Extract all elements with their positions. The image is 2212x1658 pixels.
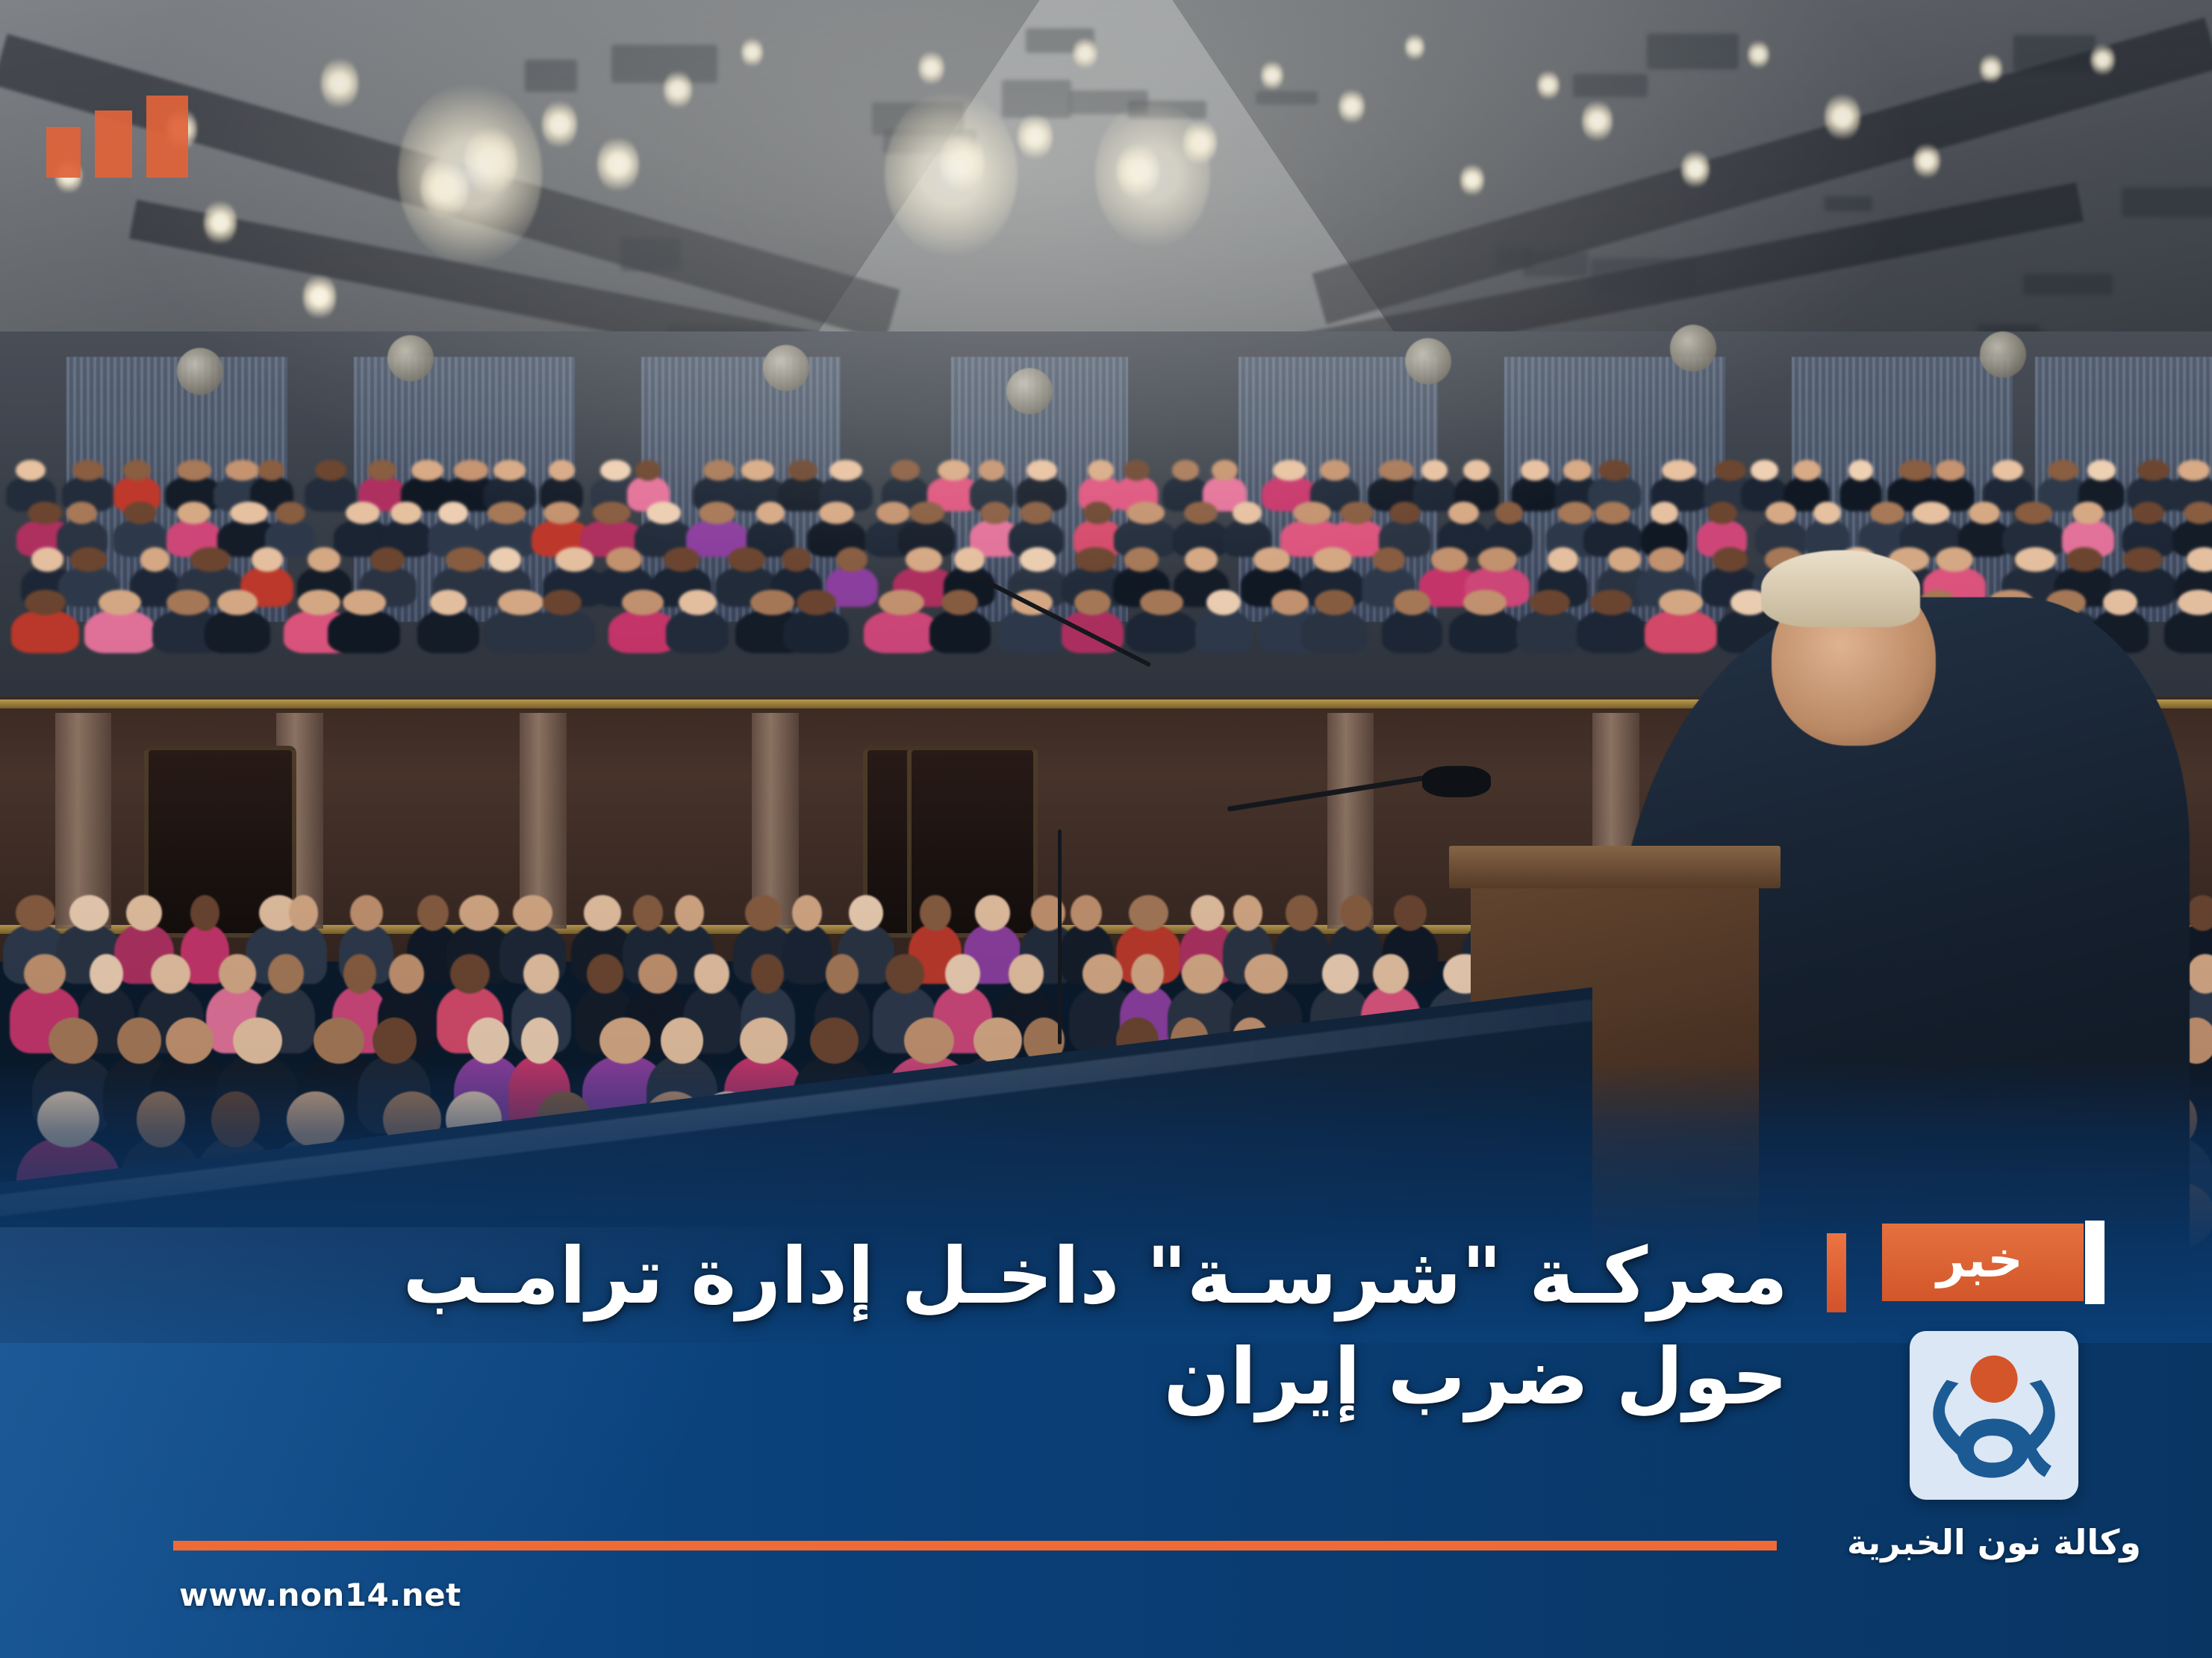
headline-line-1: معركـة "شرسـة" داخـل إدارة ترامـب [127,1226,1788,1327]
news-card: معركـة "شرسـة" داخـل إدارة ترامـب حول ضر… [0,0,2212,1658]
agency-name: وكالة نون الخبرية [1847,1522,2141,1562]
noon-agency-logo-icon[interactable] [1910,1331,2078,1500]
headline: معركـة "شرسـة" داخـل إدارة ترامـب حول ضر… [127,1226,1788,1427]
headline-line-2: حول ضرب إيران [127,1327,1788,1427]
brand-block: خبر وكالة نون الخبرية [1845,1224,2143,1562]
news-badge: خبر [1882,1224,2084,1301]
orange-divider [173,1541,1777,1551]
news-badge-label: خبر [1937,1235,2029,1289]
three-bars-watermark-icon [46,96,188,178]
headline-accent-bar [1827,1233,1846,1312]
website-url[interactable]: www.non14.net [179,1577,461,1613]
